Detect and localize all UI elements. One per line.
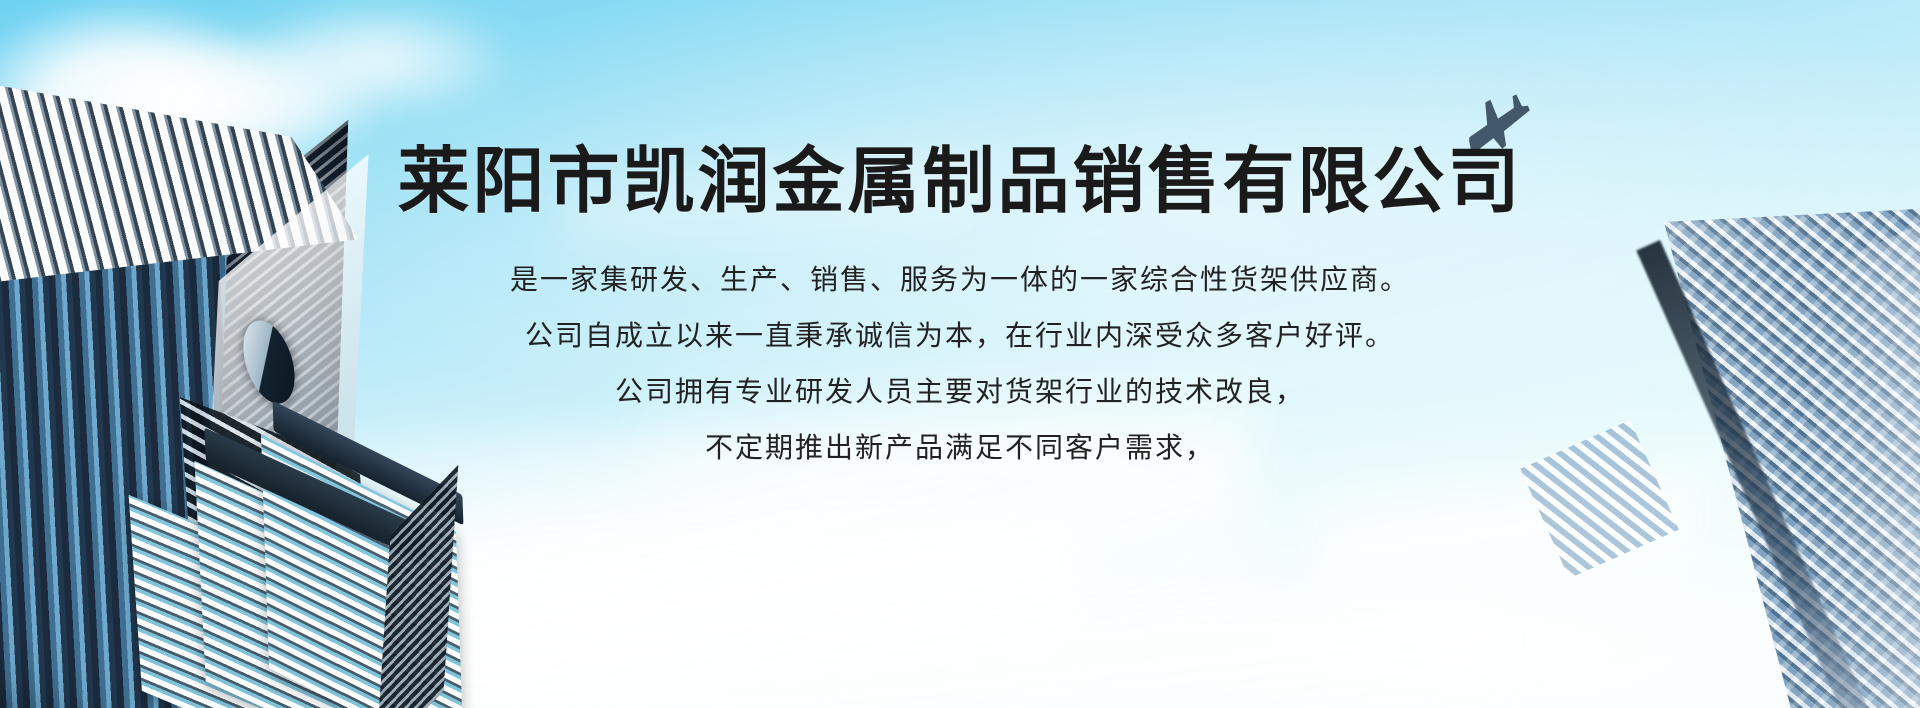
tower-glass-facade xyxy=(1564,120,1920,708)
office-building xyxy=(145,430,475,708)
page-title: 莱阳市凯润金属制品销售有限公司 xyxy=(397,146,1522,218)
description-line: 不定期推出新产品满足不同客户需求， xyxy=(705,420,1215,476)
tower-panel-detail xyxy=(1520,420,1678,578)
skyscraper-right xyxy=(1540,120,1920,708)
description-line: 公司自成立以来一直秉承诚信为本，在行业内深受众多客户好评。 xyxy=(525,308,1395,364)
description-line: 是一家集研发、生产、销售、服务为一体的一家综合性货架供应商。 xyxy=(510,252,1410,308)
company-hero-banner: 莱阳市凯润金属制品销售有限公司 是一家集研发、生产、销售、服务为一体的一家综合性… xyxy=(0,0,1920,708)
company-description: 是一家集研发、生产、销售、服务为一体的一家综合性货架供应商。 公司自成立以来一直… xyxy=(510,252,1410,476)
description-line: 公司拥有专业研发人员主要对货架行业的技术改良， xyxy=(615,364,1305,420)
